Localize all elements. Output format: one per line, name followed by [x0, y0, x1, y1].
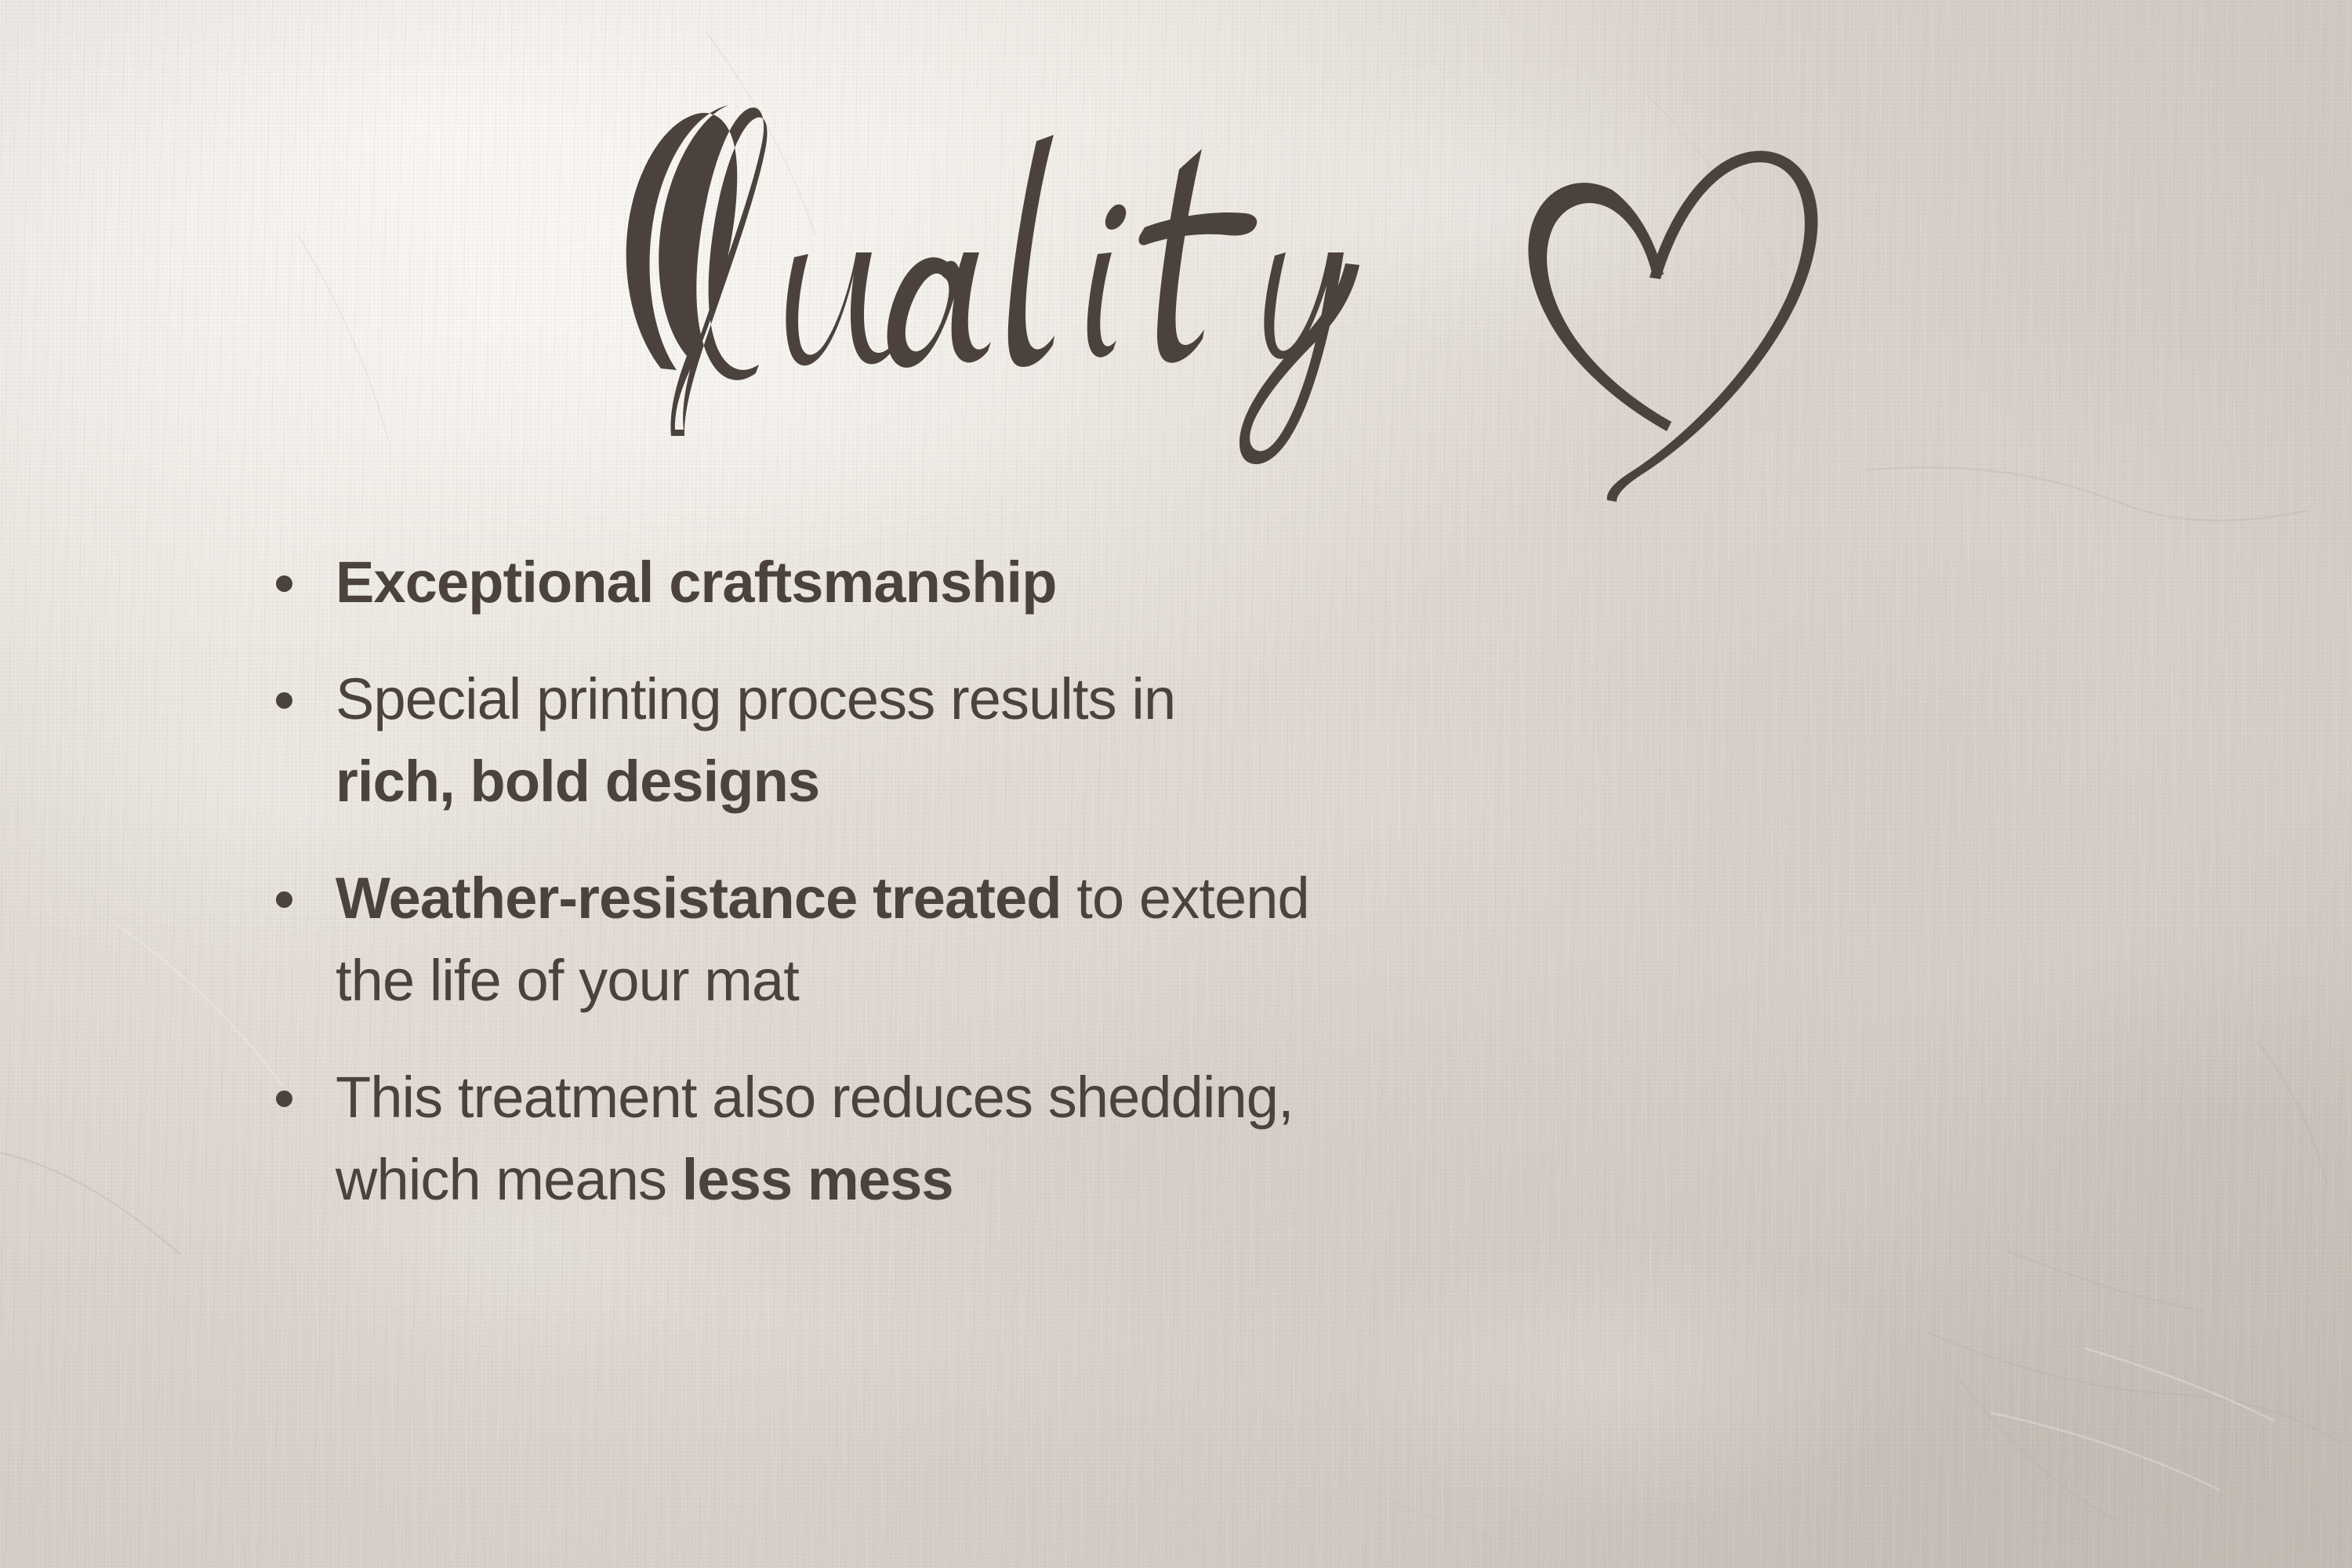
list-item: This treatment also reduces shedding, wh…	[259, 1056, 2156, 1221]
bullet-text-2: Special printing process results in rich…	[336, 658, 2156, 822]
bullet-dot-icon	[276, 692, 292, 709]
heading-group	[596, 94, 1819, 455]
list-item: Weather-resistance treated to extend the…	[259, 857, 2156, 1022]
bullet-2-segment-bold: rich, bold designs	[336, 749, 819, 814]
heart-outline-icon	[1528, 151, 1817, 502]
bullet-4-segment-bold: less mess	[682, 1147, 953, 1212]
list-item: Exceptional craftsmanship	[259, 541, 2156, 623]
script-heading-quality	[626, 105, 1359, 464]
bullet-dot-icon	[276, 575, 292, 592]
bullet-dot-icon	[276, 1091, 292, 1107]
promo-graphic: Exceptional craftsmanship Special printi…	[0, 0, 2352, 1568]
bullet-text-1: Exceptional craftsmanship	[336, 541, 2156, 623]
feature-bullet-list: Exceptional craftsmanship Special printi…	[259, 541, 2156, 1221]
list-item: Special printing process results in rich…	[259, 658, 2156, 822]
bullet-text-3: Weather-resistance treated to extend the…	[336, 857, 2156, 1022]
bullet-3-segment-bold: Weather-resistance treated	[336, 866, 1062, 931]
bullet-text-4: This treatment also reduces shedding, wh…	[336, 1056, 2156, 1221]
bullet-1-segment-bold: Exceptional craftsmanship	[336, 550, 1057, 615]
bullet-2-segment-regular: Special printing process results in	[336, 666, 1175, 731]
bullet-dot-icon	[276, 891, 292, 908]
